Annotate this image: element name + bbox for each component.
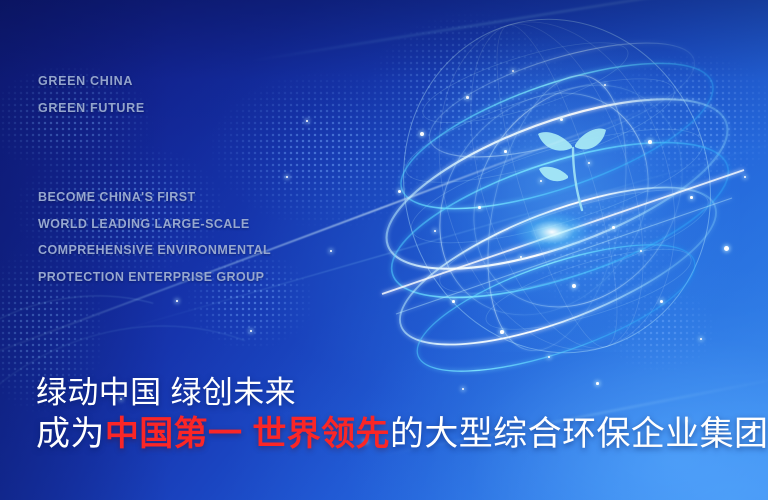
banner-stage: GREEN CHINA GREEN FUTURE BECOME CHINA'S … (0, 0, 768, 500)
headline-line-1: 绿动中国 绿创未来 (36, 373, 768, 413)
mission-line-1: BECOME CHINA'S FIRST (38, 184, 271, 211)
headline-prefix: 成为 (36, 415, 105, 453)
mission-block: BECOME CHINA'S FIRST WORLD LEADING LARGE… (38, 184, 271, 290)
headline-line-2: 成为中国第一 世界领先的大型综合环保企业集团 (36, 413, 768, 456)
headline-suffix: 的大型综合环保企业集团 (390, 415, 768, 453)
mission-line-4: PROTECTION ENTERPRISE GROUP (38, 264, 271, 291)
tagline-line-2: GREEN FUTURE (38, 95, 145, 122)
mission-line-2: WORLD LEADING LARGE-SCALE (38, 211, 271, 238)
headline-block: 绿动中国 绿创未来 成为中国第一 世界领先的大型综合环保企业集团 (36, 373, 768, 456)
headline-highlight: 中国第一 世界领先 (105, 415, 390, 453)
tagline-block: GREEN CHINA GREEN FUTURE (38, 68, 145, 122)
tagline-line-1: GREEN CHINA (38, 68, 145, 95)
mission-line-3: COMPREHENSIVE ENVIRONMENTAL (38, 237, 271, 264)
